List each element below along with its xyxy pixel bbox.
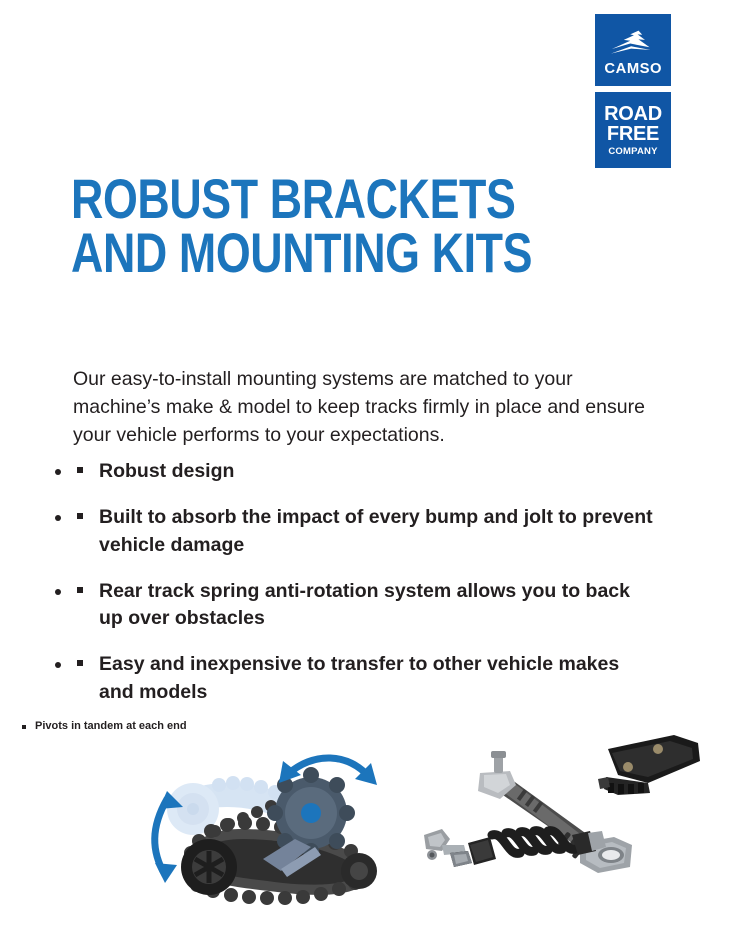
camso-wordmark: CAMSO [604, 62, 662, 77]
square-bullet-icon [77, 513, 83, 519]
list-item-label: Robust design [99, 458, 653, 485]
horizontal-pivot-arrow [279, 758, 377, 785]
track-diagram-svg [145, 735, 405, 910]
hardware-photo-svg [412, 727, 712, 892]
square-bullet-icon [77, 587, 83, 593]
page-title-line-2: AND MOUNTING KITS [71, 226, 519, 280]
list-item-label: Built to absorb the impact of every bump… [99, 504, 653, 559]
square-bullet-icon [77, 467, 83, 473]
tagline-free: FREE [607, 125, 659, 144]
mounting-hardware-photo [412, 727, 712, 892]
poster-page: CAMSO ROAD FREE COMPANY ROBUST BRACKETS … [0, 0, 740, 946]
intro-paragraph: Our easy-to-install mounting systems are… [73, 366, 648, 450]
list-item: Built to absorb the impact of every bump… [73, 504, 653, 559]
list-item-label: Easy and inexpensive to transfer to othe… [99, 651, 653, 706]
camso-tree-mark-icon [610, 29, 656, 59]
page-title: ROBUST BRACKETS AND MOUNTING KITS [71, 172, 519, 280]
figure-row [0, 735, 740, 915]
idler-wheel [181, 839, 237, 895]
sprocket-hub-dot [301, 803, 321, 823]
list-item: Robust design [73, 458, 653, 485]
spring-damper-assembly [424, 829, 606, 867]
tagline-company: COMPANY [608, 147, 657, 156]
camso-logo-block: CAMSO ROAD FREE COMPANY [595, 14, 671, 168]
list-item: Easy and inexpensive to transfer to othe… [73, 651, 653, 706]
figure-caption: Pivots in tandem at each end [20, 720, 350, 732]
road-free-company-tile: ROAD FREE COMPANY [595, 92, 671, 168]
rear-wheel [341, 853, 377, 889]
anti-rotation-arm [478, 751, 632, 873]
rubber-track-system-pivot-diagram [145, 735, 405, 910]
tagline-road: ROAD [604, 105, 662, 124]
figure-caption-label: Pivots in tandem at each end [35, 720, 187, 732]
list-item: Rear track spring anti-rotation system a… [73, 578, 653, 633]
mounting-bracket [598, 735, 700, 795]
list-item-label: Rear track spring anti-rotation system a… [99, 578, 653, 633]
square-bullet-icon [22, 725, 26, 729]
vertical-pivot-arrow [155, 791, 183, 883]
feature-list: Robust design Built to absorb the impact… [73, 458, 653, 706]
camso-logo-tile: CAMSO [595, 14, 671, 86]
square-bullet-icon [77, 660, 83, 666]
page-title-line-1: ROBUST BRACKETS [71, 172, 519, 226]
